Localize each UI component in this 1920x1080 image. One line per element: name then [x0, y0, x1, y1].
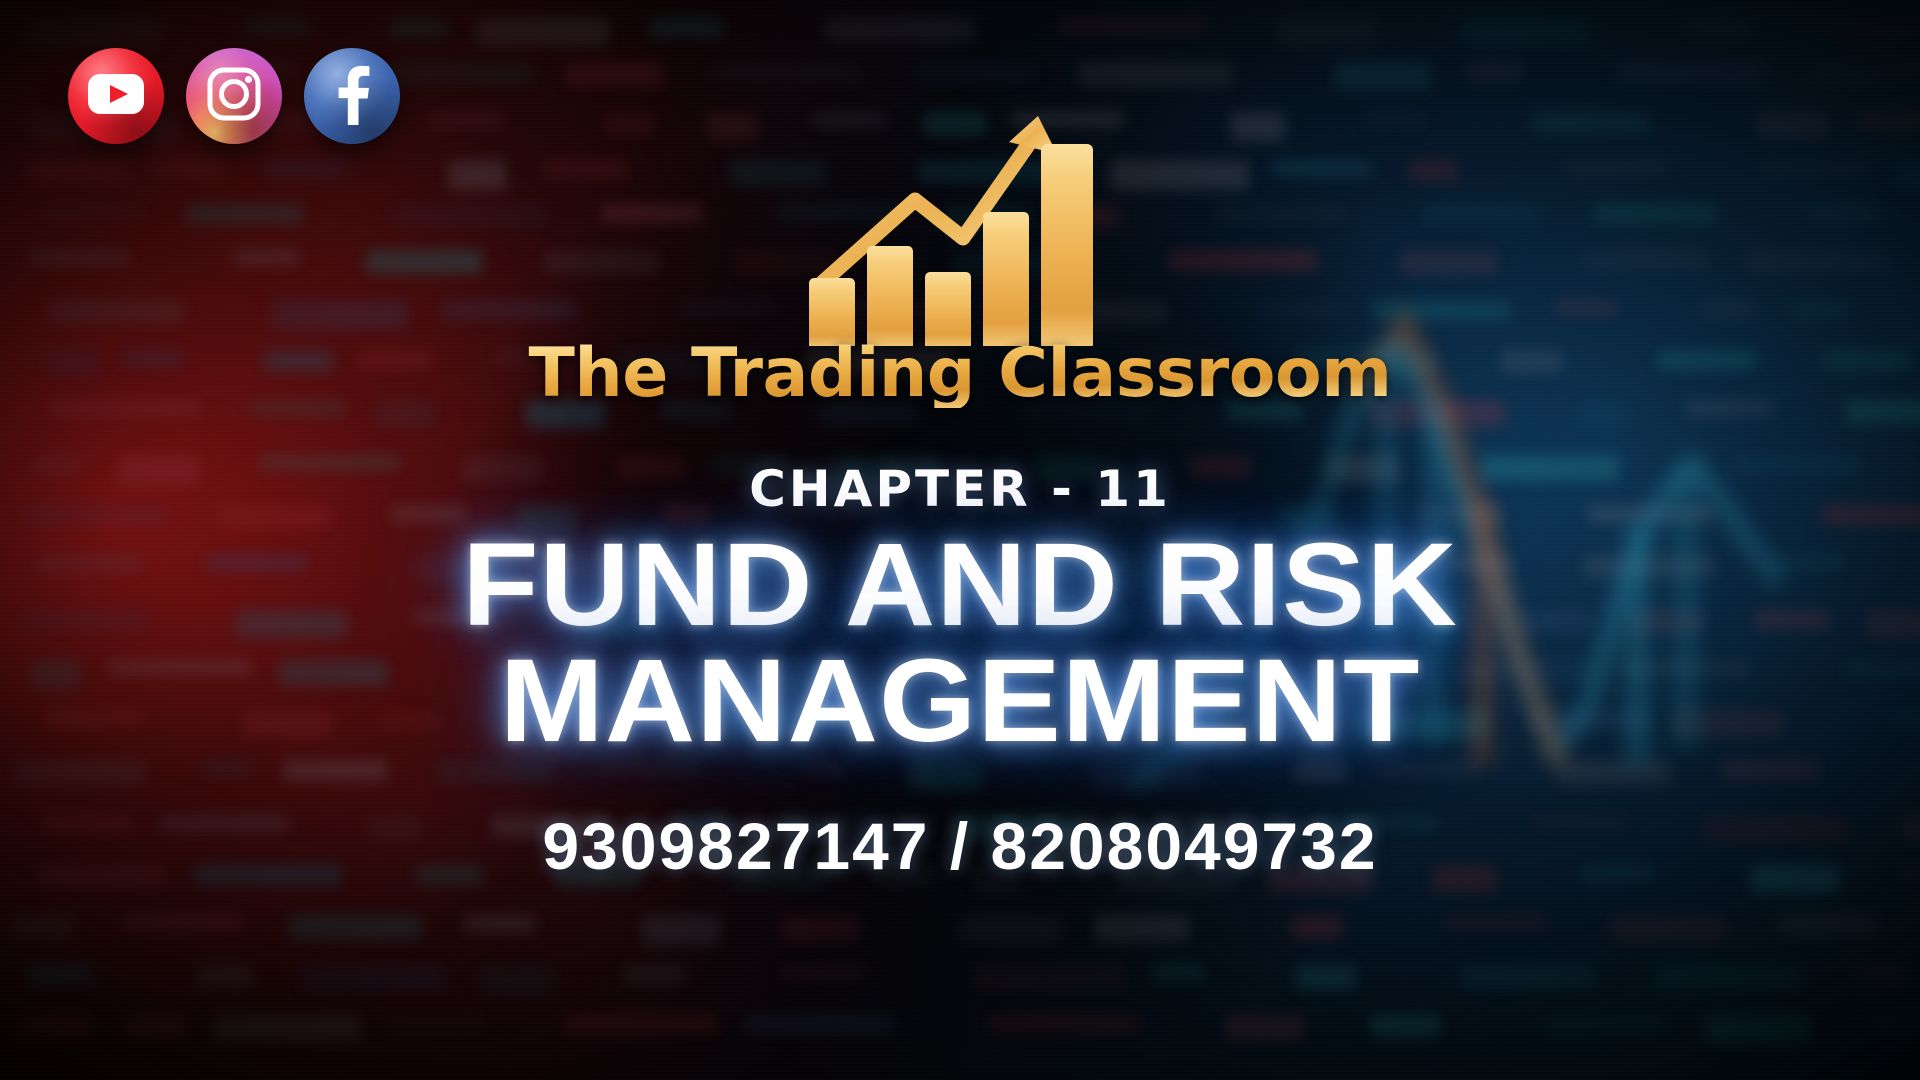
bar-chart-rising-arrow-icon [795, 96, 1125, 346]
instagram-icon [205, 65, 263, 128]
poster-canvas: YouTube Instagram Facebook [0, 0, 1920, 1080]
chapter-label: CHAPTER - 11 [0, 460, 1920, 518]
brand-logo: The Trading Classroom [0, 96, 1920, 408]
youtube-icon [88, 74, 144, 119]
slide-title: FUND AND RISK MANAGEMENT [0, 528, 1920, 759]
slide-title-line-1: FUND AND RISK [0, 528, 1920, 644]
contact-numbers: 9309827147 / 8208049732 [0, 808, 1920, 884]
slide-title-line-2: MANAGEMENT [0, 644, 1920, 760]
brand-name: The Trading Classroom [528, 340, 1391, 408]
facebook-icon [332, 63, 372, 130]
